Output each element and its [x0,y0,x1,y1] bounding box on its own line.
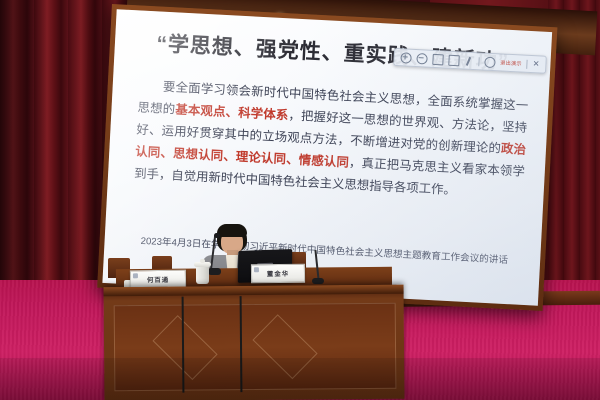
nameplate-right: 董金华 [251,264,305,284]
microphone-head [214,233,220,238]
fit-width-icon[interactable] [448,54,460,66]
nameplate-logo-icon [133,273,138,278]
slide-body: 要全面学习领会新时代中国特色社会主义思想，全面系统掌握这一思想的基本观点、科学体… [134,75,529,205]
toolbar-divider [527,59,528,68]
tea-cup-knob [200,259,205,263]
slide-line-2-head: 思想的 [137,100,175,116]
pen-icon[interactable] [464,56,473,65]
timer-icon[interactable] [484,56,496,68]
microphone-base [208,268,221,275]
nameplate-logo-icon [254,267,259,272]
slide-line-2-tail: ，把握好这一思想的世界观、方法论，坚 [288,108,515,134]
toolbar-divider [478,57,479,66]
close-icon[interactable]: ✕ [533,60,540,68]
slide-line-2-highlight: 基本观点、科学体系 [175,102,289,122]
exit-presentation-label[interactable]: 退出演示 [500,59,522,67]
microphone-base [312,278,324,284]
nameplate-left-text: 何百通 [147,275,169,284]
zoom-out-icon[interactable] [416,53,428,65]
speaker-fringe [217,224,247,237]
tea-cup [196,266,209,284]
desk-top-edge [104,285,404,297]
zoom-in-icon[interactable] [400,52,412,64]
fit-page-icon[interactable] [432,53,444,65]
carpet-foreground-shadow [0,358,600,400]
nameplate-right-text: 董金华 [267,269,289,278]
conference-hall-scene: “学思想、强党性、重实践、建新功” 要全面学习领会新时代中国特色社会主义思想，全… [0,0,600,400]
slide-line-4-tail: ，真正把马克思主义看家 [349,156,488,177]
